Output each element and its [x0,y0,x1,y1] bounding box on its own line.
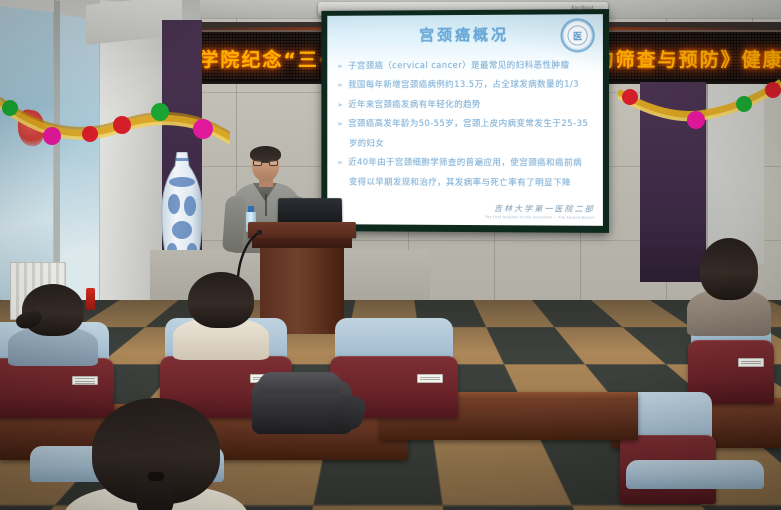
attendee-mid-left [22,284,84,336]
glasses-icon [253,160,278,166]
projection-screen: 宫颈癌概况 医 ➢ 子宫颈癌（cervical cancer）是最常见的妇科恶性… [321,9,609,233]
lectern-top [248,222,356,238]
bullet-text: 子宫颈癌（cervical cancer）是最常见的妇科恶性肿瘤 [348,61,595,73]
glasses-lens-right [269,160,278,166]
slide-footer-en: The First Hospital of Jilin University —… [485,215,595,220]
bullet-text: 岁的妇女 [349,139,595,151]
backpack-flap [258,372,342,394]
bullet-text: 变得以早期发现和治疗，其发病率与死亡率有了明显下降 [349,177,595,189]
slide-bullet-list: ➢ 子宫颈癌（cervical cancer）是最常见的妇科恶性肿瘤 ➢ 我国每… [337,61,595,198]
university-seal-icon: 医 [560,18,594,52]
hair-tie [148,472,164,481]
bullet-text: 近40年由于宫颈细胞学筛查的普遍应用，使宫颈癌和癌前病 [348,158,595,170]
backpack [252,372,360,434]
attendee-right-hair [700,238,758,300]
seal-glyph: 医 [562,29,592,42]
slide-bullet: ➢ 近40年由于宫颈细胞学筛查的普遍应用，使宫颈癌和癌前病 [337,158,595,170]
attendee-front-center [92,398,220,504]
slide-bullet: ➢ 宫颈癌高发年龄为50-55岁，宫颈上皮内病变常发生于25-35 [337,119,595,131]
seat-number-tag [738,358,764,367]
lectern-band [252,238,352,248]
seat-number-tag [72,376,98,385]
glasses-bridge [262,162,269,163]
bullet-marker-icon: ➢ [337,119,343,129]
bullet-text: 我国每年新增宫颈癌病例约13.5万，占全球发病数量的1/3 [348,80,595,92]
slide-footer: 吉林大学第一医院二部 The First Hospital of Jilin U… [485,203,595,220]
fire-extinguisher [86,288,95,310]
seat-number-tag [417,374,443,383]
lecture-hall-photo: 公共卫生学院纪念“三·八”国际劳动妇女节《宫颈癌的筛查与预防》健康讲座 [0,0,781,510]
bullet-marker-icon: ➢ [337,81,343,91]
presenter-zipper [265,194,267,216]
slide-bullet-continuation: 岁的妇女 [337,139,595,151]
bullet-text: 宫颈癌高发年龄为50-55岁，宫颈上皮内病变常发生于25-35 [348,119,595,131]
slide-footer-cn: 吉林大学第一医院二部 [485,203,595,215]
slide-bullet: ➢ 我国每年新增宫颈癌病例约13.5万，占全球发病数量的1/3 [337,80,595,92]
purple-accent-wall-right [640,82,706,282]
bullet-text: 近年来宫颈癌发病有年轻化的趋势 [348,100,595,112]
attendee-mid-center-hair [188,272,254,328]
slide-bullet: ➢ 近年来宫颈癌发病有年轻化的趋势 [337,100,595,112]
laptop-screen [278,198,342,224]
presentation-slide: 宫颈癌概况 医 ➢ 子宫颈癌（cervical cancer）是最常见的妇科恶性… [327,14,603,226]
attendee-right [700,238,758,300]
bullet-marker-icon: ➢ [337,100,343,110]
glasses-lens-left [253,160,262,166]
slide-bullet: ➢ 子宫颈癌（cervical cancer）是最常见的妇科恶性肿瘤 [337,61,595,73]
attendee-mid-center [188,272,254,328]
side-door [706,84,764,264]
attendee-front-ponytail [136,476,174,510]
seat-cushion [626,460,764,489]
bullet-marker-icon: ➢ [337,158,343,168]
seat-front-right[interactable] [620,460,770,510]
slide-bullet-continuation: 变得以早期发现和治疗，其发病率与死亡率有了明显下降 [337,177,595,189]
bullet-marker-icon: ➢ [337,61,343,71]
